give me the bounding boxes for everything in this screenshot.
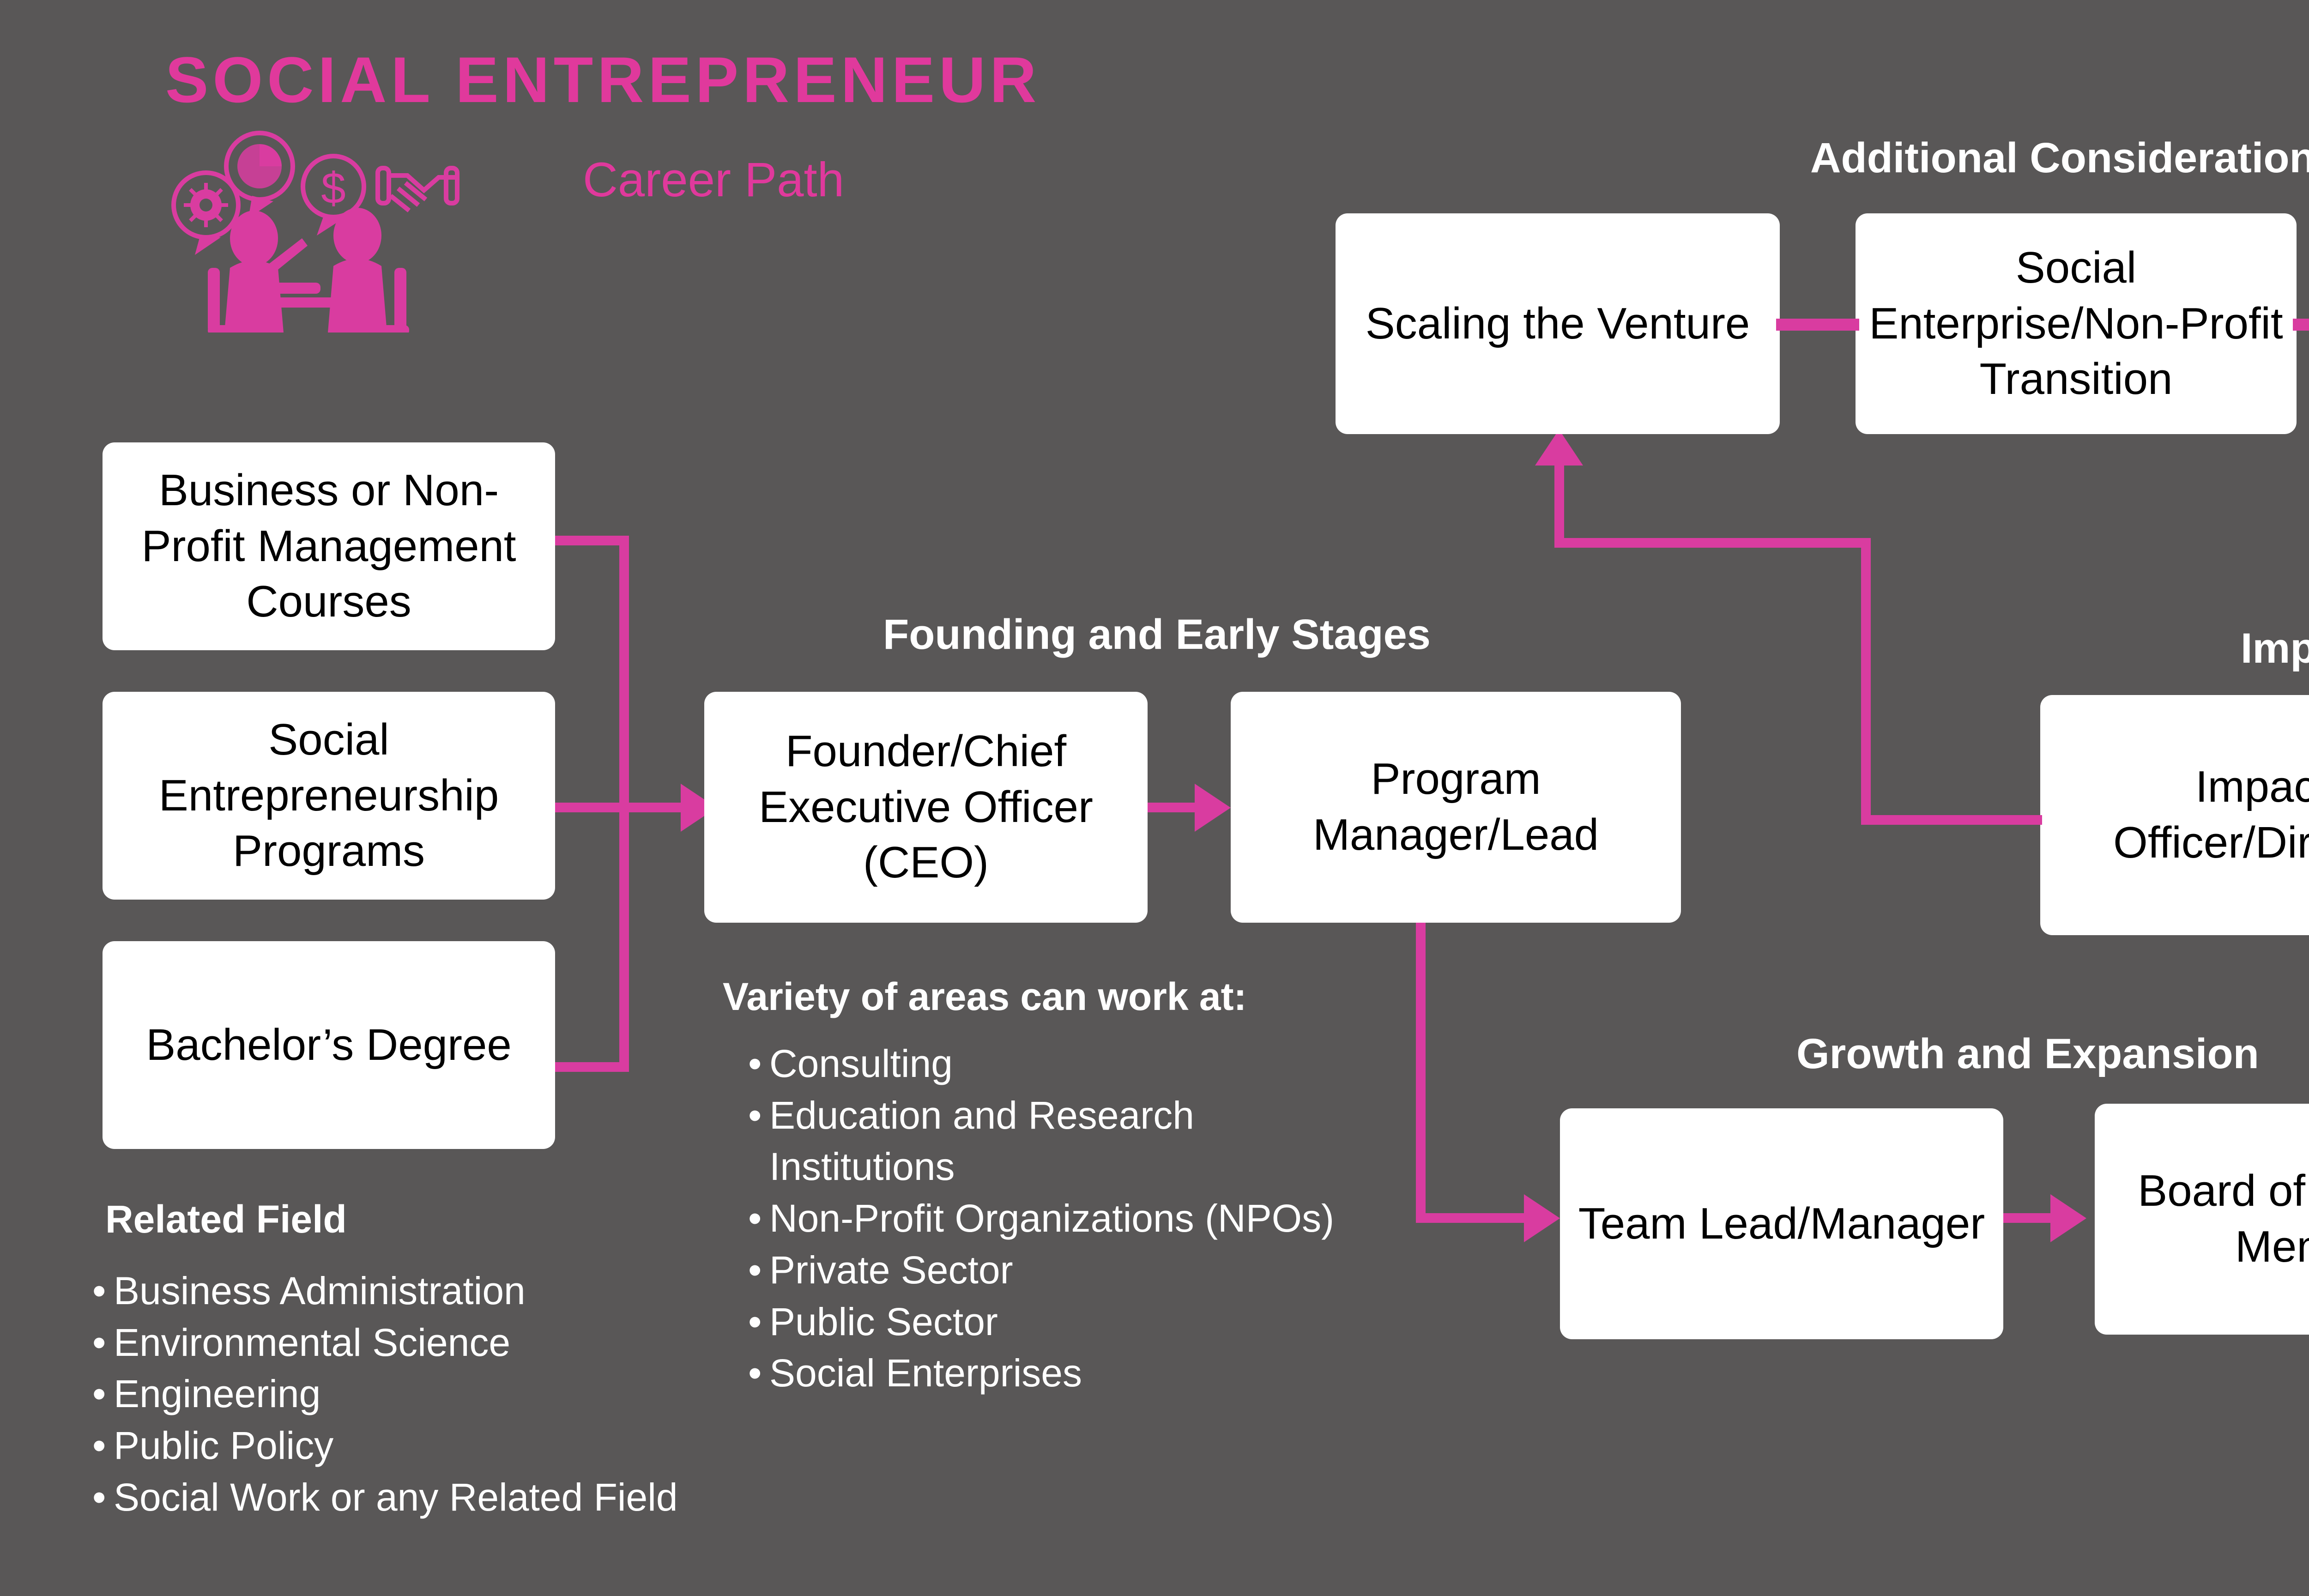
- list-item: Consulting: [748, 1038, 1334, 1090]
- arrowhead-to-program-manager: [1195, 784, 1231, 832]
- node-program-manager[interactable]: Program Manager/Lead: [1231, 692, 1681, 923]
- connector-scaling-to-transition: [1776, 319, 1859, 331]
- connector-transition-to-exit: [2293, 319, 2309, 331]
- arrowhead-to-board-member: [2050, 1194, 2086, 1242]
- list-item: Public Policy: [92, 1420, 678, 1472]
- career-path-diagram: SOCIAL ENTREPRENEUR Career Path $: [0, 0, 2309, 1596]
- node-team-lead[interactable]: Team Lead/Manager: [1560, 1108, 2003, 1339]
- node-enterprise-transition[interactable]: Social Enterprise/Non-Profit Transition: [1856, 213, 2297, 434]
- work-areas-heading: Variety of areas can work at:: [723, 974, 1247, 1019]
- arrowhead-to-scaling-venture: [1535, 429, 1583, 465]
- list-item: Social Enterprises: [748, 1348, 1334, 1399]
- svg-text:$: $: [321, 163, 345, 213]
- entrepreneur-meeting-icon: $: [152, 129, 522, 332]
- list-item: Public Sector: [748, 1296, 1334, 1348]
- list-item: Environmental Science: [92, 1317, 678, 1369]
- page-title: SOCIAL ENTREPRENEUR: [165, 42, 1040, 117]
- connector-education0-bus: [555, 536, 629, 545]
- node-board-member[interactable]: Board of Directors Member: [2095, 1104, 2309, 1335]
- connector-impact-up2: [1554, 462, 1564, 545]
- arrowhead-to-team-lead: [1524, 1194, 1560, 1242]
- node-founder-ceo[interactable]: Founder/Chief Executive Officer (CEO): [704, 692, 1148, 923]
- node-impact-officer[interactable]: Impact Officer/Director: [2040, 695, 2309, 935]
- list-item: Non-Profit Organizations (NPOs): [748, 1193, 1334, 1245]
- page-subtitle: Career Path: [583, 152, 844, 208]
- list-item-continuation: Institutions: [748, 1141, 1334, 1193]
- work-areas-list: Consulting Education and Research Instit…: [748, 1038, 1334, 1399]
- connector-education2-bus: [555, 1062, 629, 1072]
- node-scaling-venture[interactable]: Scaling the Venture: [1336, 213, 1780, 434]
- section-heading-additional: Additional Considerations: [1810, 134, 2309, 182]
- node-education-1[interactable]: Social Entrepreneurship Programs: [103, 692, 555, 900]
- connector-impact-left2: [1554, 538, 1871, 548]
- connector-ceo-to-program: [1148, 803, 1197, 812]
- list-item: Education and Research: [748, 1090, 1334, 1142]
- node-education-0[interactable]: Business or Non-Profit Management Course…: [103, 442, 555, 650]
- section-heading-impact: Impact and Sustainability: [2241, 624, 2309, 673]
- connector-teamlead-to-board: [2003, 1213, 2053, 1223]
- related-field-heading: Related Field: [105, 1197, 347, 1242]
- node-education-2[interactable]: Bachelor’s Degree: [103, 941, 555, 1149]
- connector-bus-to-ceo: [555, 803, 683, 812]
- connector-impact-up: [1861, 538, 1871, 824]
- related-field-list: Business Administration Environmental Sc…: [92, 1265, 678, 1523]
- connector-impact-left: [1861, 815, 2042, 825]
- list-item: Engineering: [92, 1368, 678, 1420]
- connector-program-down: [1416, 923, 1426, 1223]
- list-item: Social Work or any Related Field: [92, 1472, 678, 1523]
- section-heading-founding: Founding and Early Stages: [883, 611, 1431, 659]
- list-item: Private Sector: [748, 1245, 1334, 1296]
- section-heading-growth: Growth and Expansion: [1796, 1030, 2259, 1078]
- list-item: Business Administration: [92, 1265, 678, 1317]
